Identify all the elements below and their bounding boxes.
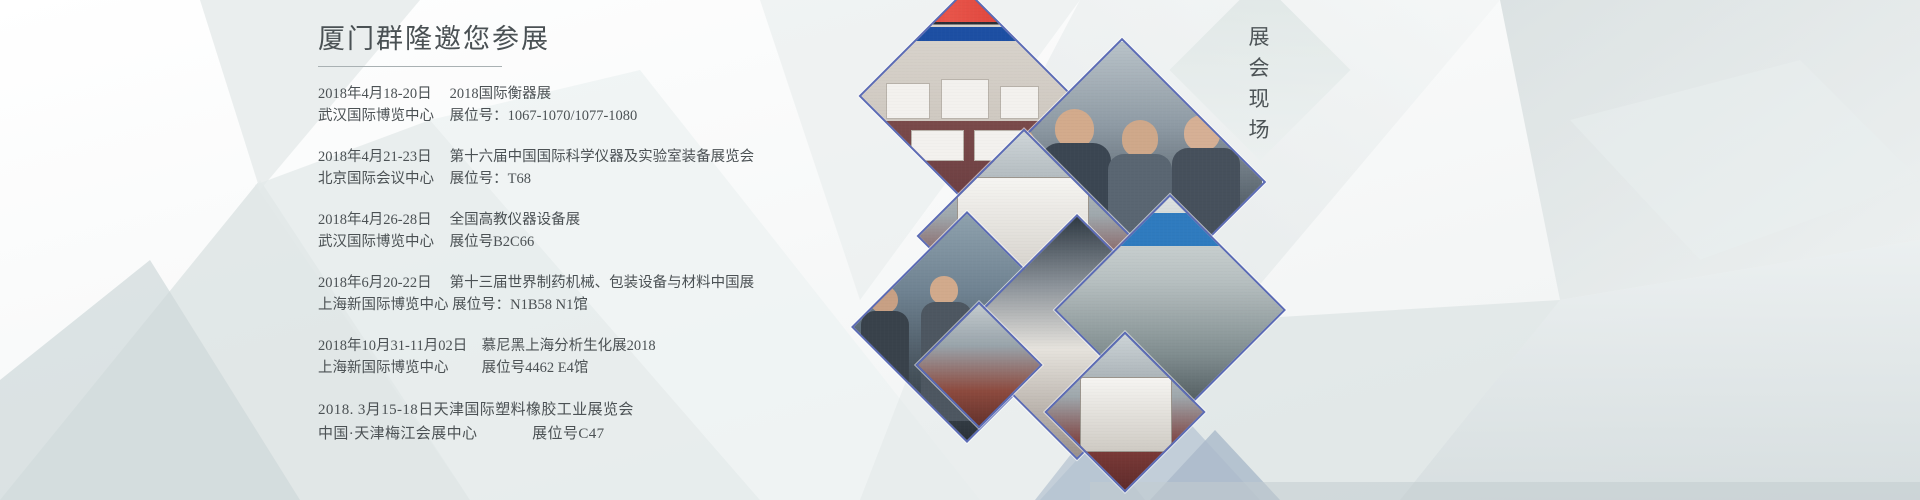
photo-collage — [830, 0, 1270, 500]
event-item: 2018年10月31-11月02日 慕尼黑上海分析生化展2018 上海新国际博览… — [318, 335, 878, 379]
event-row-date: 2018年10月31-11月02日 慕尼黑上海分析生化展2018 — [318, 335, 878, 357]
event-date: 2018年4月21-23日 — [318, 146, 446, 168]
event-date: 2018年10月31-11月02日 — [318, 335, 478, 357]
event-row-venue: 北京国际会议中心 展位号：T68 — [318, 168, 878, 190]
event-booth: 展位号：1067-1070/1077-1080 — [450, 105, 638, 127]
event-name: 第十六届中国国际科学仪器及实验室装备展览会 — [450, 146, 755, 168]
event-row-date: 2018年6月20-22日 第十三届世界制药机械、包装设备与材料中国展 — [318, 272, 878, 294]
event-date: 2018年6月20-22日 — [318, 272, 446, 294]
event-item: 2018. 3月15-18日天津国际塑料橡胶工业展览会 中国·天津梅江会展中心 … — [318, 398, 878, 446]
event-venue: 上海新国际博览中心 — [318, 357, 478, 379]
event-name: 慕尼黑上海分析生化展2018 — [482, 335, 656, 357]
event-booth: 展位号：N1B58 N1馆 — [452, 294, 588, 316]
event-venue: 武汉国际博览中心 — [318, 105, 446, 127]
event-row-date: 2018年4月21-23日 第十六届中国国际科学仪器及实验室装备展览会 — [318, 146, 878, 168]
exhibition-banner: 厦门群隆邀您参展 2018年4月18-20日 2018国际衡器展 武汉国际博览中… — [0, 0, 1920, 500]
event-item: 2018年4月21-23日 第十六届中国国际科学仪器及实验室装备展览会 北京国际… — [318, 146, 878, 190]
event-venue: 中国·天津梅江会展中心 — [318, 422, 528, 446]
event-item: 2018年4月18-20日 2018国际衡器展 武汉国际博览中心 展位号：106… — [318, 83, 878, 127]
event-date: 2018年4月18-20日 — [318, 83, 446, 105]
event-name: 2018国际衡器展 — [450, 83, 552, 105]
event-venue: 武汉国际博览中心 — [318, 231, 446, 253]
event-booth: 展位号：T68 — [450, 168, 531, 190]
event-row-venue: 中国·天津梅江会展中心 展位号C47 — [318, 422, 878, 446]
event-row-venue: 上海新国际博览中心 展位号：N1B58 N1馆 — [318, 294, 878, 316]
event-venue: 上海新国际博览中心 — [318, 294, 449, 316]
title-underline — [318, 66, 502, 67]
event-item: 2018年6月20-22日 第十三届世界制药机械、包装设备与材料中国展 上海新国… — [318, 272, 878, 316]
event-row-date: 2018. 3月15-18日天津国际塑料橡胶工业展览会 — [318, 398, 878, 422]
event-date: 2018年4月26-28日 — [318, 209, 446, 231]
event-row-date: 2018年4月26-28日 全国高教仪器设备展 — [318, 209, 878, 231]
event-booth: 展位号C47 — [532, 422, 604, 446]
event-venue: 北京国际会议中心 — [318, 168, 446, 190]
event-item: 2018年4月26-28日 全国高教仪器设备展 武汉国际博览中心 展位号B2C6… — [318, 209, 878, 253]
event-row-venue: 武汉国际博览中心 展位号：1067-1070/1077-1080 — [318, 105, 878, 127]
event-row-date: 2018年4月18-20日 2018国际衡器展 — [318, 83, 878, 105]
event-date: 2018. 3月15-18日天津国际塑料橡胶工业展览会 — [318, 398, 634, 422]
event-booth: 展位号B2C66 — [450, 231, 535, 253]
event-row-venue: 上海新国际博览中心 展位号4462 E4馆 — [318, 357, 878, 379]
event-row-venue: 武汉国际博览中心 展位号B2C66 — [318, 231, 878, 253]
event-list-column: 厦门群隆邀您参展 2018年4月18-20日 2018国际衡器展 武汉国际博览中… — [318, 18, 878, 488]
event-name: 第十三届世界制药机械、包装设备与材料中国展 — [450, 272, 755, 294]
event-booth: 展位号4462 E4馆 — [482, 357, 589, 379]
page-title: 厦门群隆邀您参展 — [318, 18, 878, 60]
event-name: 全国高教仪器设备展 — [450, 209, 581, 231]
